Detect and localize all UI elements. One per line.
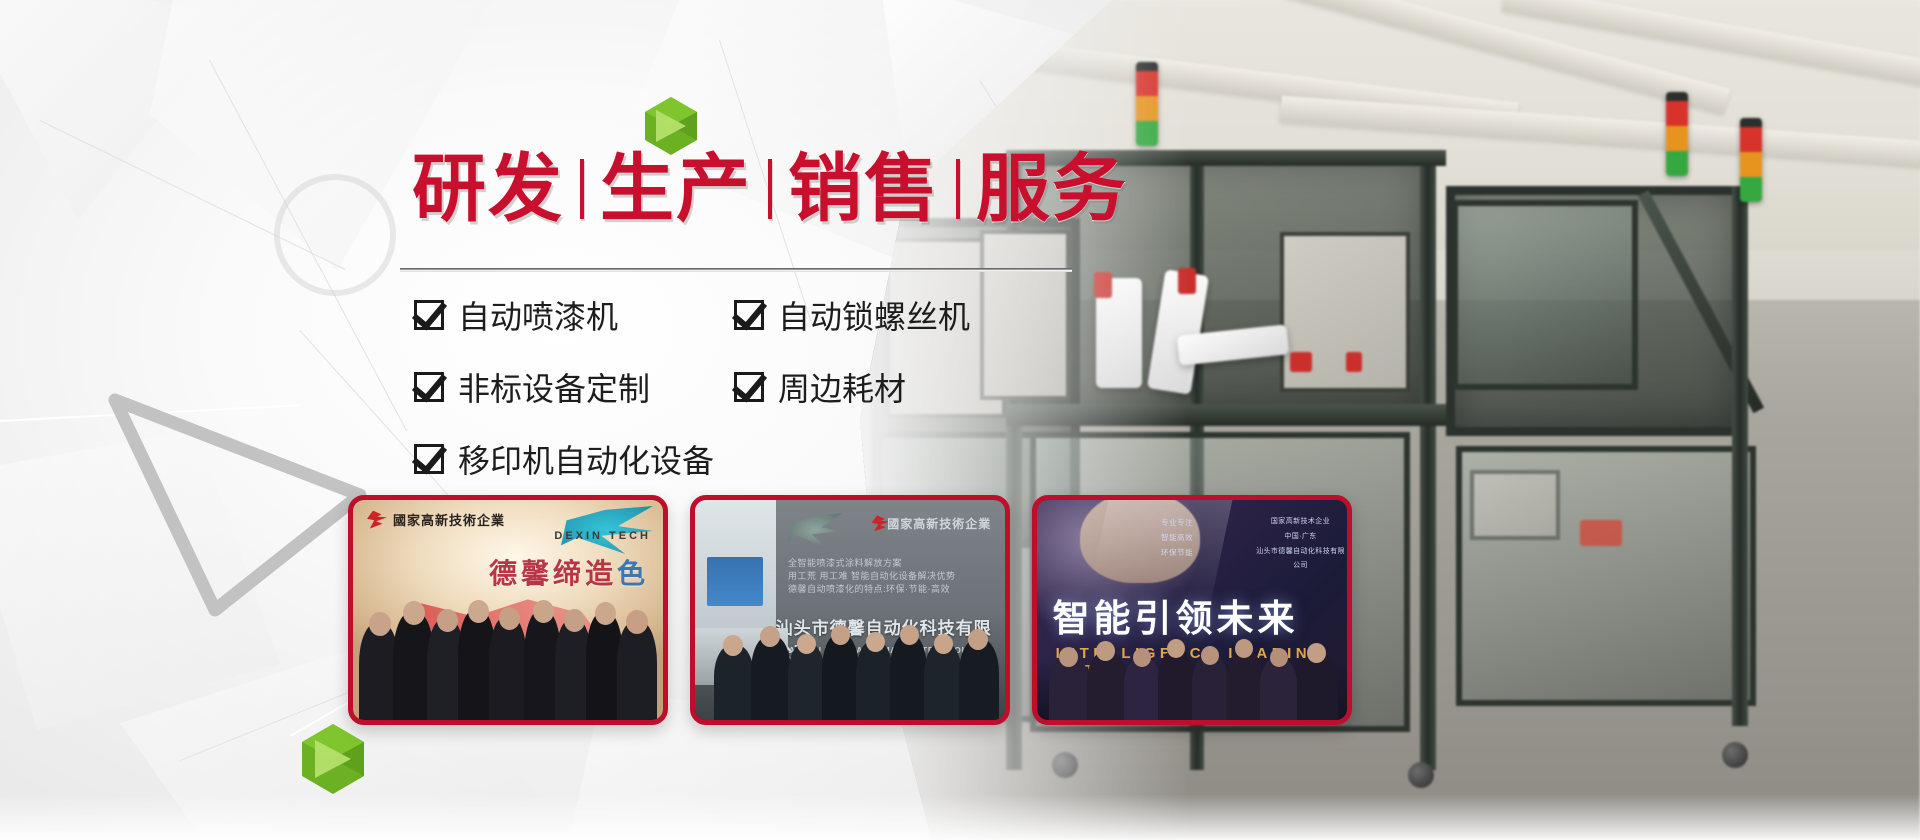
robot-tip bbox=[1290, 352, 1312, 372]
photo-card-company-lobby[interactable]: 國家高新技術企業 全智能喷漆式涂料解放方案 用工荒 用工难 智能自动化设备解决优… bbox=[690, 495, 1010, 725]
green-hexagon-icon bbox=[296, 722, 370, 796]
person-head bbox=[1270, 648, 1288, 667]
background-equipment-marker bbox=[1580, 520, 1622, 546]
person-figure bbox=[714, 645, 754, 720]
person-head bbox=[564, 609, 585, 632]
person-head bbox=[1307, 643, 1326, 663]
feature-item: 自动锁螺丝机 bbox=[734, 292, 1054, 338]
feature-label: 周边耗材 bbox=[778, 364, 906, 410]
checkbox-checked-icon bbox=[734, 372, 764, 402]
headline-divider bbox=[400, 268, 1072, 272]
machine-caster bbox=[1408, 762, 1434, 788]
flame-icon bbox=[367, 511, 387, 529]
person-figure bbox=[1049, 658, 1089, 720]
person-figure bbox=[924, 643, 961, 720]
person-head bbox=[468, 600, 489, 623]
person-head bbox=[369, 612, 391, 636]
photo-card-intelligence-stage[interactable]: 专业专注 智能高效 环保节能 国家高新技术企业 中国·广东 汕头市德馨自动化科技… bbox=[1032, 495, 1352, 725]
person-head bbox=[403, 601, 425, 625]
checkbox-checked-icon bbox=[414, 444, 444, 474]
card-brand-en: DEXIN TECH bbox=[554, 530, 651, 542]
card-badge: 國家高新技術企業 bbox=[367, 510, 505, 529]
card-slogan: 全智能喷漆式涂料解放方案 用工荒 用工难 智能自动化设备解决优势 德馨自动喷漆化… bbox=[788, 557, 956, 596]
feature-label: 自动锁螺丝机 bbox=[778, 292, 970, 338]
background-equipment bbox=[1470, 470, 1560, 540]
machine-post bbox=[1420, 150, 1436, 770]
person-head bbox=[1096, 641, 1115, 661]
person-head bbox=[723, 635, 743, 656]
feature-label: 移印机自动化设备 bbox=[458, 436, 714, 482]
card-script-text: 德馨缔造色 bbox=[489, 552, 649, 592]
feature-label: 自动喷漆机 bbox=[458, 292, 618, 338]
person-figure bbox=[856, 641, 893, 720]
person-figure bbox=[751, 636, 791, 720]
person-figure bbox=[1124, 658, 1161, 720]
person-figure bbox=[1087, 652, 1127, 720]
headline-segment-4: 服务 bbox=[960, 152, 1144, 226]
person-figure bbox=[1226, 650, 1263, 720]
headline-segment-3: 销售 bbox=[772, 152, 956, 226]
photo-card-gallery: 國家高新技術企業 DEXIN TECH 德馨缔造色 bbox=[348, 495, 1352, 725]
card-badge-label: 國家高新技術企業 bbox=[887, 515, 991, 532]
machine-caster bbox=[1722, 742, 1748, 768]
photo-card-exhibition-team[interactable]: 國家高新技術企業 DEXIN TECH 德馨缔造色 bbox=[348, 495, 668, 725]
page-title: 研发 生产 销售 服务 bbox=[396, 152, 1144, 226]
card-tags-right: 国家高新技术企业 中国·广东 汕头市德馨自动化科技有限公司 bbox=[1254, 515, 1347, 574]
headline-segment-1: 研发 bbox=[396, 152, 580, 226]
banner-stage: 研发 生产 销售 服务 自动喷漆机 自动锁螺丝机 非标设备定制 周边耗材 移印机… bbox=[0, 0, 1920, 840]
card-title-cn: 智能引领未来 bbox=[1053, 588, 1299, 642]
checkbox-checked-icon bbox=[414, 372, 444, 402]
triangle-outline-icon bbox=[95, 370, 375, 620]
person-head bbox=[499, 607, 520, 630]
card-script-tail: 色 bbox=[617, 557, 649, 590]
machine-post bbox=[1732, 186, 1748, 726]
person-head bbox=[968, 629, 988, 650]
person-figure bbox=[890, 634, 927, 720]
card-badge-label: 國家高新技術企業 bbox=[393, 510, 505, 529]
feature-list: 自动喷漆机 自动锁螺丝机 非标设备定制 周边耗材 移印机自动化设备 bbox=[414, 292, 1114, 482]
feature-item: 周边耗材 bbox=[734, 364, 1054, 410]
person-head bbox=[900, 625, 919, 645]
circle-outline-decor bbox=[270, 170, 400, 300]
person-figure bbox=[788, 643, 825, 720]
card-script-main: 德馨缔造 bbox=[489, 557, 617, 590]
checkbox-checked-icon bbox=[734, 300, 764, 330]
card-tags-left: 专业专注 智能高效 环保节能 bbox=[1161, 515, 1193, 560]
person-figure bbox=[1158, 650, 1195, 720]
person-head bbox=[626, 610, 648, 634]
person-figure bbox=[959, 639, 999, 720]
person-head bbox=[437, 609, 458, 632]
person-figure bbox=[1192, 656, 1229, 720]
feature-item: 移印机自动化设备 bbox=[414, 436, 734, 482]
robot-tip bbox=[1346, 352, 1362, 372]
person-figure bbox=[822, 634, 859, 720]
stack-light bbox=[1666, 92, 1688, 176]
person-head bbox=[1059, 647, 1078, 667]
machine-glass-door bbox=[1452, 200, 1638, 390]
feature-item: 自动喷漆机 bbox=[414, 292, 734, 338]
checkbox-checked-icon bbox=[414, 300, 444, 330]
feature-item: 非标设备定制 bbox=[414, 364, 734, 410]
stack-light bbox=[1740, 118, 1762, 202]
person-figure bbox=[1297, 654, 1337, 720]
feature-label: 非标设备定制 bbox=[458, 364, 650, 410]
person-figure bbox=[617, 621, 657, 720]
lobby-poster bbox=[707, 557, 763, 605]
person-figure bbox=[489, 617, 526, 720]
headline-segment-2: 生产 bbox=[584, 152, 768, 226]
person-head bbox=[866, 632, 885, 652]
person-head bbox=[934, 634, 953, 654]
person-head bbox=[533, 600, 554, 623]
person-figure bbox=[1260, 658, 1297, 720]
